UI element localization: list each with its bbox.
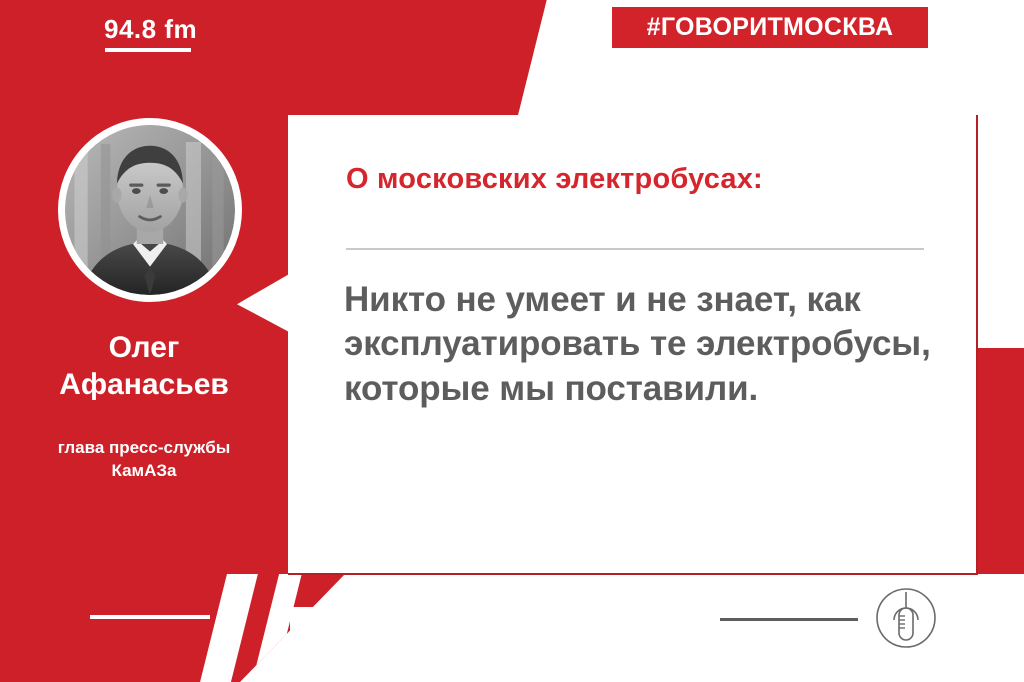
footer-diagonal-stripe-1 <box>198 543 263 682</box>
speaker-role-line-2: КамАЗа <box>0 460 288 483</box>
footer-dash <box>90 615 210 619</box>
speaker-name: Олег Афанасьев <box>0 330 288 403</box>
quote-card-tail <box>237 273 291 333</box>
portrait-photo-icon <box>65 125 235 295</box>
microphone-logo-icon <box>874 586 938 650</box>
speaker-name-line-1: Олег <box>0 330 288 367</box>
quote-text: Никто не умеет и не знает, как эксплуати… <box>344 278 952 411</box>
speaker-role-line-1: глава пресс-службы <box>0 437 288 460</box>
footer-source: в интервью «Говорит Москва» <box>348 608 643 630</box>
speaker-role: глава пресс-службы КамАЗа <box>0 437 288 483</box>
hashtag-badge: #ГОВОРИТМОСКВА <box>612 7 928 48</box>
quote-topic: О московских электробусах: <box>346 163 763 196</box>
quote-card: О московских электробусах: Никто не умее… <box>288 115 978 575</box>
speech-bubble-icon <box>290 607 328 633</box>
speaker-name-line-2: Афанасьев <box>0 367 288 404</box>
quote-card-poster: 94.8 fm #ГОВОРИТМОСКВА <box>0 0 1024 682</box>
avatar <box>58 118 242 302</box>
station-frequency: 94.8 fm <box>104 14 197 45</box>
card-divider <box>346 248 924 250</box>
frequency-underline <box>105 48 191 52</box>
footer-gray-rule <box>720 618 858 621</box>
